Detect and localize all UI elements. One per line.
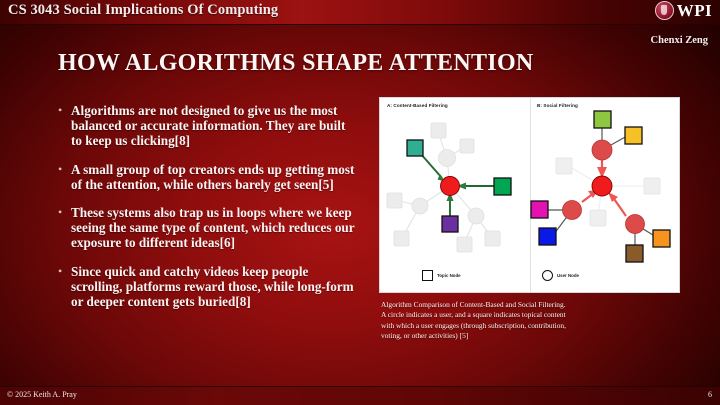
caption-line: A circle indicates a user, and a square …	[381, 310, 681, 320]
bullet-marker: •	[58, 205, 71, 251]
figure-caption: Algorithm Comparison of Content-Based an…	[381, 300, 681, 341]
panel-social-filtering: B: Social Filtering	[530, 98, 679, 292]
slide-header: CS 3043 Social Implications Of Computing…	[0, 0, 720, 25]
content-based-graph	[380, 98, 530, 292]
bullet-text: These systems also trap us in loops wher…	[71, 205, 358, 251]
list-item: • Since quick and catchy videos keep peo…	[58, 264, 358, 310]
caption-line: with which a user engages (through subsc…	[381, 321, 681, 331]
algorithm-comparison-figure: A: Content-Based Filtering	[379, 97, 680, 293]
page-title: HOW ALGORITHMS SHAPE ATTENTION	[58, 50, 618, 77]
legend-label: Topic Node	[437, 273, 461, 278]
topic-node-yellow	[625, 127, 642, 144]
topic-node-brown	[626, 245, 643, 262]
copyright-text: © 2025 Keith A. Pray	[7, 390, 77, 399]
topic-node-magenta	[531, 201, 548, 218]
caption-line: voting, or other activities) [5]	[381, 331, 681, 341]
list-item: • A small group of top creators ends up …	[58, 162, 358, 192]
list-item: • Algorithms are not designed to give us…	[58, 103, 358, 149]
page-number: 6	[708, 390, 712, 399]
topic-node-green	[494, 178, 511, 195]
bullet-text: Since quick and catchy videos keep peopl…	[71, 264, 358, 310]
author-name: Chenxi Zeng	[651, 35, 708, 46]
topic-node-purple	[442, 216, 458, 232]
bullet-marker: •	[58, 162, 71, 192]
topic-node-teal	[407, 140, 423, 156]
bullet-list: • Algorithms are not designed to give us…	[58, 103, 358, 322]
topic-node-orange	[653, 230, 670, 247]
bullet-text: A small group of top creators ends up ge…	[71, 162, 358, 192]
bullet-marker: •	[58, 103, 71, 149]
wpi-seal-icon	[655, 1, 674, 20]
caption-line: Algorithm Comparison of Content-Based an…	[381, 300, 681, 310]
panel-content-based-filtering: A: Content-Based Filtering	[380, 98, 531, 292]
bullet-text: Algorithms are not designed to give us t…	[71, 103, 358, 149]
slide-footer: © 2025 Keith A. Pray 6	[0, 386, 720, 405]
course-title: CS 3043 Social Implications Of Computing	[8, 2, 278, 19]
faded-edges	[572, 168, 650, 216]
bullet-marker: •	[58, 264, 71, 310]
legend-topic-node: Topic Node	[422, 270, 461, 281]
user-node-left	[563, 201, 582, 220]
user-node-right	[626, 215, 645, 234]
user-node-upper	[592, 140, 612, 160]
active-user-node	[441, 177, 460, 196]
topic-node-blue	[539, 228, 556, 245]
active-user-node	[592, 176, 612, 196]
wpi-logo: WPI	[655, 1, 712, 20]
topic-node-lime	[594, 111, 611, 128]
slide-canvas: CS 3043 Social Implications Of Computing…	[0, 0, 720, 405]
legend-user-node: User Node	[542, 270, 579, 281]
social-filtering-graph	[530, 98, 679, 292]
wpi-wordmark: WPI	[677, 2, 712, 20]
legend-label: User Node	[557, 273, 579, 278]
list-item: • These systems also trap us in loops wh…	[58, 205, 358, 251]
circle-icon	[542, 270, 553, 281]
square-icon	[422, 270, 433, 281]
